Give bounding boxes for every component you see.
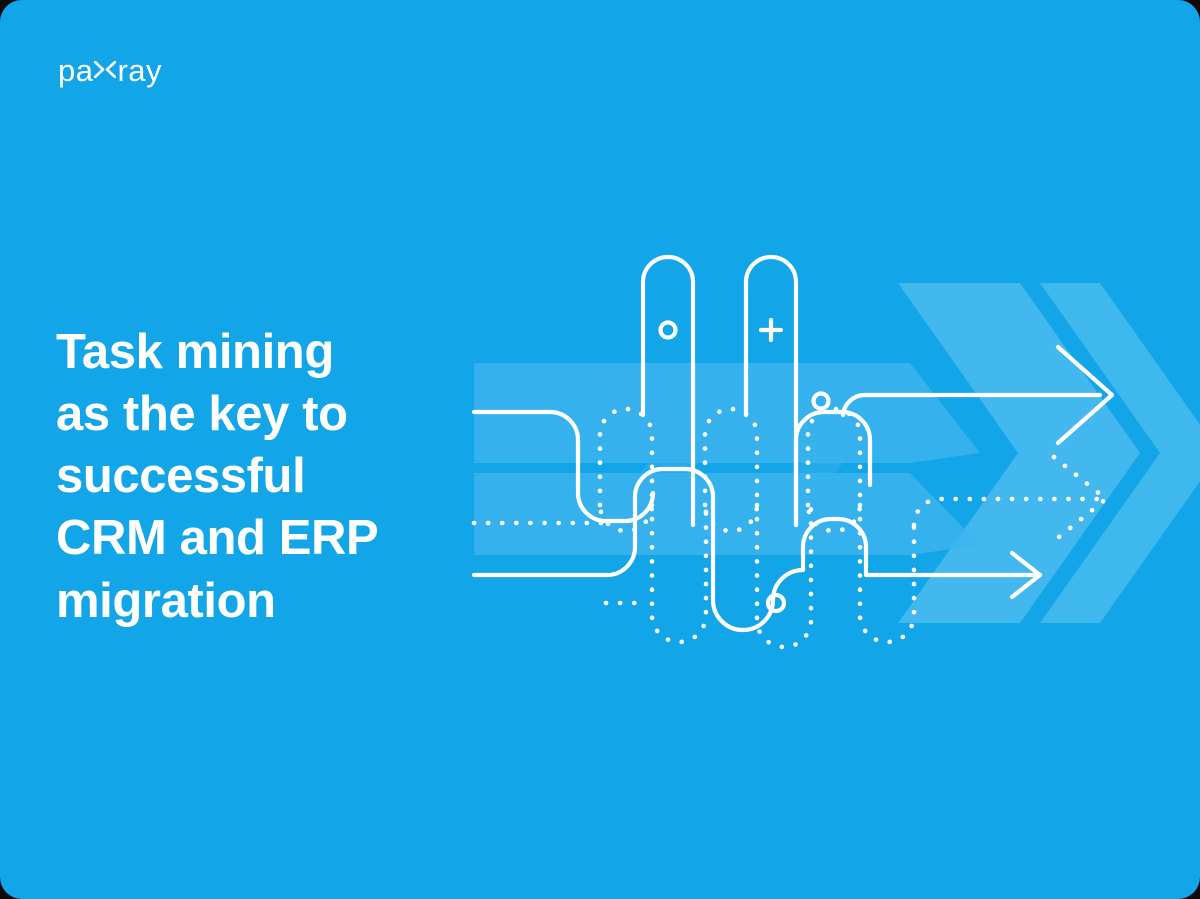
process-flow-illustration	[440, 235, 1200, 665]
logo-text-left: pa	[58, 55, 93, 86]
promo-card: pa ray Task mining as the key to success…	[0, 0, 1200, 899]
circle-marker-1-icon	[661, 323, 676, 338]
background-chevrons	[474, 283, 1200, 623]
page-title: Task mining as the key to successful CRM…	[56, 321, 456, 632]
logo-text-right: ray	[117, 55, 162, 86]
logo-text: pa ray	[58, 55, 162, 86]
headline-line-3: successful	[56, 449, 305, 503]
logo-double-chevron-icon	[94, 61, 116, 78]
paxray-logo[interactable]: pa ray	[58, 52, 162, 88]
headline-line-2: as the key to	[56, 387, 348, 441]
plus-marker-icon	[761, 320, 781, 340]
headline-line-4: CRM and ERP	[56, 511, 378, 565]
chevron-band-lower	[474, 473, 980, 555]
headline-line-5: migration	[56, 574, 276, 628]
circle-marker-3-icon	[768, 595, 784, 611]
headline-line-1: Task mining	[56, 325, 334, 379]
